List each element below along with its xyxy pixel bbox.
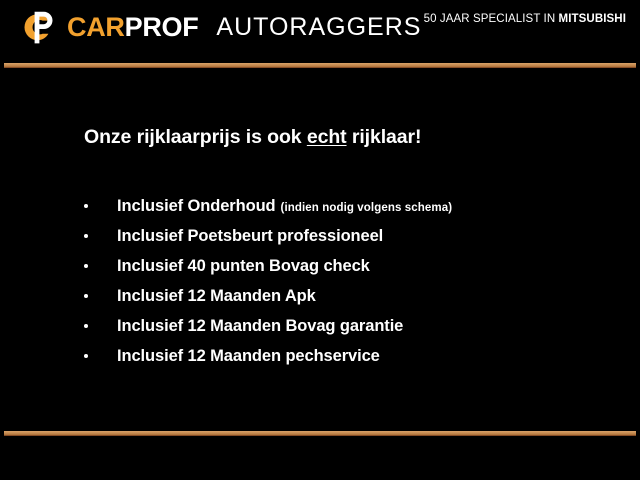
tagline-prefix: 50 JAAR SPECIALIST IN: [424, 13, 559, 25]
list-item-label: Inclusief 12 Maanden pechservice: [117, 347, 380, 365]
list-item: Inclusief Poetsbeurt professioneel: [78, 221, 618, 251]
list-item-label: Inclusief Poetsbeurt professioneel: [117, 227, 383, 245]
headline-before: Onze rijklaarprijs is ook: [84, 126, 307, 148]
promo-slide: CARPROF AUTORAGGERS 50 JAAR SPECIALIST I…: [0, 0, 640, 480]
bullet-dot-icon: [84, 234, 88, 238]
list-item-label: Inclusief 12 Maanden Apk: [117, 287, 316, 305]
list-item-label: Inclusief 12 Maanden Bovag garantie: [117, 317, 403, 335]
list-item-label: Inclusief 40 punten Bovag check: [117, 257, 370, 275]
carprof-wordmark: CARPROF: [67, 14, 198, 41]
wordmark-car: CAR: [67, 12, 125, 42]
page-title: Onze rijklaarprijs is ook echt rijklaar!: [84, 126, 421, 149]
bullet-dot-icon: [84, 294, 88, 298]
bullet-dot-icon: [84, 354, 88, 358]
list-item-note: (indien nodig volgens schema): [281, 202, 453, 214]
tagline-brand: MITSUBISHI: [559, 13, 626, 25]
benefits-list: Inclusief Onderhoud(indien nodig volgens…: [78, 191, 618, 371]
slide-footer: [0, 436, 640, 480]
header-tagline: 50 JAAR SPECIALIST IN MITSUBISHI: [424, 14, 626, 26]
list-item: Inclusief 40 punten Bovag check: [78, 251, 618, 281]
carprof-cp-monogram-icon: [17, 11, 58, 44]
headline-emphasis: echt: [307, 126, 347, 148]
list-item: Inclusief 12 Maanden Apk: [78, 281, 618, 311]
list-item-label: Inclusief Onderhoud: [117, 197, 276, 215]
dealer-name: AUTORAGGERS: [216, 15, 421, 40]
headline-after: rijklaar!: [347, 126, 422, 148]
bullet-dot-icon: [84, 324, 88, 328]
list-item: Inclusief Onderhoud(indien nodig volgens…: [78, 191, 618, 221]
list-item: Inclusief 12 Maanden Bovag garantie: [78, 311, 618, 341]
bullet-dot-icon: [84, 204, 88, 208]
wordmark-prof: PROF: [125, 12, 199, 42]
bullet-dot-icon: [84, 264, 88, 268]
slide-body: Onze rijklaarprijs is ook echt rijklaar!…: [0, 63, 640, 431]
list-item: Inclusief 12 Maanden pechservice: [78, 341, 618, 371]
slide-header: CARPROF AUTORAGGERS 50 JAAR SPECIALIST I…: [0, 0, 640, 62]
brand-lockup: CARPROF AUTORAGGERS: [17, 9, 421, 45]
